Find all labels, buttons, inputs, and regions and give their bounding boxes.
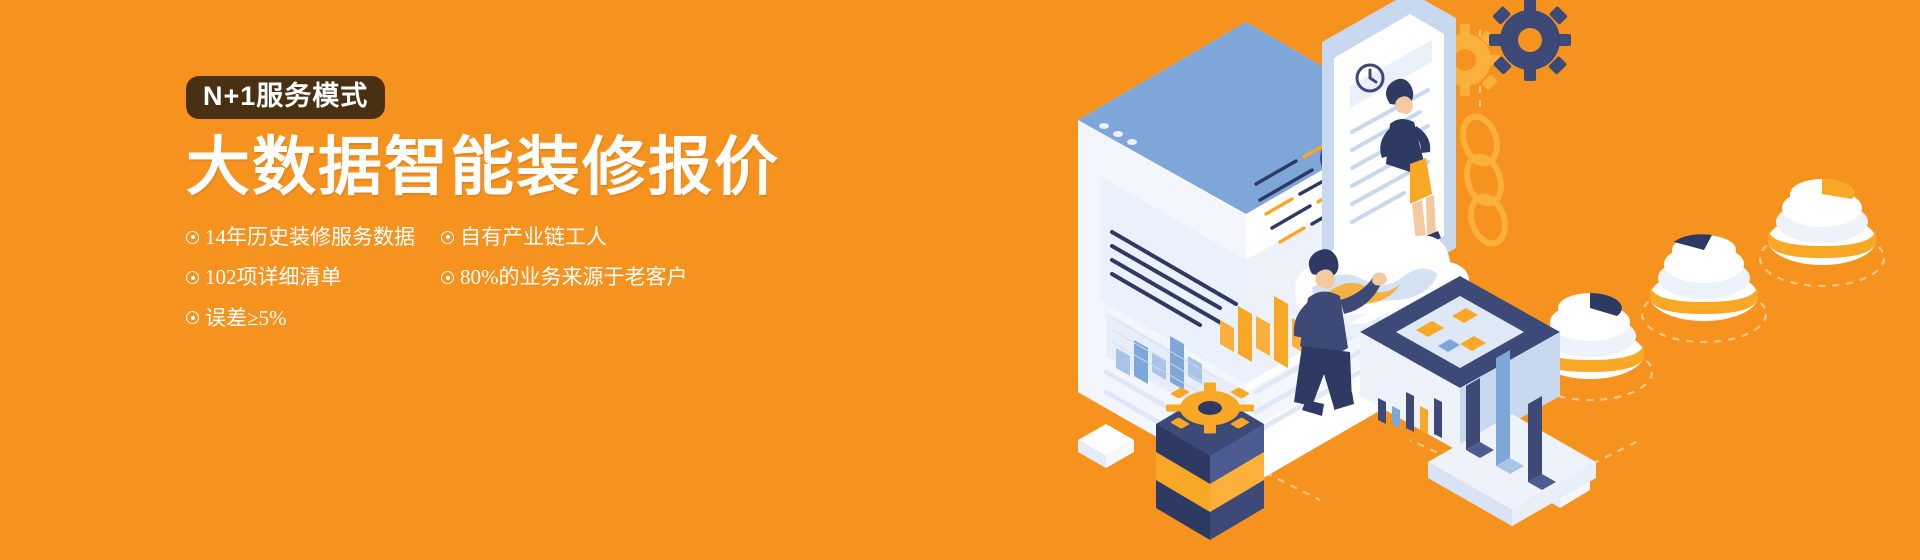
list-item: 80%的业务来源于老客户 (441, 264, 771, 290)
white-tile-small-3 (1078, 424, 1134, 468)
list-item: 102项详细清单 (186, 264, 441, 290)
page-title: 大数据智能装修报价 (186, 133, 866, 202)
ring-stack (1457, 112, 1510, 248)
feature-bullet-list: 14年历史装修服务数据 102项详细清单 误差≥5% 自有产业链工人 (186, 224, 826, 331)
list-item: 14年历史装修服务数据 (186, 224, 441, 250)
list-item-label: 误差≥5% (205, 305, 287, 331)
list-item-label: 14年历史装修服务数据 (205, 224, 415, 250)
banner-root: N+1服务模式 大数据智能装修报价 14年历史装修服务数据 102项详细清单 误… (0, 0, 1920, 560)
isometric-big-data-illustration (1060, 0, 1920, 560)
circle-dot-icon (186, 231, 199, 244)
list-item: 误差≥5% (186, 305, 441, 331)
list-item-label: 102项详细清单 (205, 264, 342, 290)
circle-dot-icon (441, 231, 454, 244)
database-cylinder-gear (1156, 382, 1264, 540)
gear-orange-top (1166, 382, 1254, 433)
bullet-column-right: 自有产业链工人 80%的业务来源于老客户 (441, 224, 771, 331)
pie-chart-stack-2 (1642, 234, 1766, 342)
circle-dot-icon (186, 311, 199, 324)
circle-dot-icon (186, 271, 199, 284)
list-item: 自有产业链工人 (441, 224, 771, 250)
gear-navy (1489, 0, 1571, 81)
text-block: N+1服务模式 大数据智能装修报价 14年历史装修服务数据 102项详细清单 误… (186, 76, 866, 331)
bullet-column-left: 14年历史装修服务数据 102项详细清单 误差≥5% (186, 224, 441, 331)
list-item-label: 自有产业链工人 (460, 224, 607, 250)
pie-chart-stack-3 (1760, 179, 1884, 286)
circle-dot-icon (441, 271, 454, 284)
service-mode-tag: N+1服务模式 (186, 76, 385, 119)
list-item-label: 80%的业务来源于老客户 (460, 264, 688, 290)
